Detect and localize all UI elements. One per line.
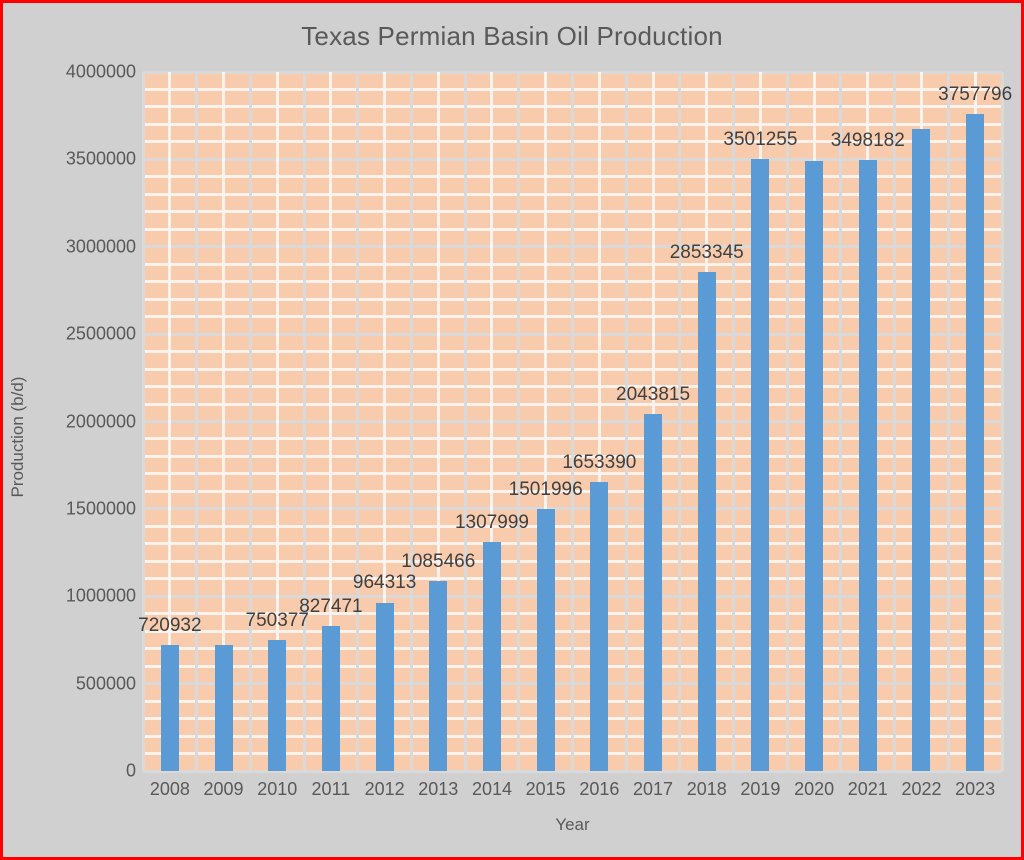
bar[interactable] (751, 159, 769, 771)
chart-screenshot: Texas Permian Basin Oil Production Produ… (0, 0, 1024, 860)
bar-value-label: 2043815 (616, 384, 690, 406)
bar[interactable] (805, 161, 823, 771)
x-axis-tick-label: 2014 (472, 779, 512, 800)
bar[interactable] (966, 114, 984, 771)
x-axis-tick-label: 2008 (150, 779, 190, 800)
bar[interactable] (698, 272, 716, 771)
y-axis-tick-label: 2500000 (6, 324, 136, 345)
x-axis-tick-label: 2011 (312, 779, 351, 800)
x-axis-tick-label: 2018 (687, 779, 727, 800)
x-axis-tick-label: 2013 (418, 779, 458, 800)
bar-value-label: 1085466 (401, 551, 475, 573)
x-axis-tick-label: 2012 (365, 779, 405, 800)
bar[interactable] (376, 603, 394, 772)
bar-series: 7209327503778274719643131085466130799915… (143, 72, 1002, 771)
x-axis-tick-label: 2017 (633, 779, 673, 800)
bar-value-label: 720932 (138, 615, 201, 637)
bar[interactable] (161, 645, 179, 771)
x-axis-tick-label: 2009 (204, 779, 244, 800)
bar[interactable] (268, 640, 286, 771)
bar[interactable] (859, 160, 877, 771)
x-axis-tick-label: 2022 (901, 779, 941, 800)
y-axis-tick-label: 1500000 (6, 498, 136, 519)
bar[interactable] (537, 509, 555, 771)
bar-value-label: 827471 (299, 596, 362, 618)
x-axis-tick-label: 2015 (526, 779, 566, 800)
bar[interactable] (483, 542, 501, 771)
bar[interactable] (590, 482, 608, 771)
bar-value-label: 3498182 (831, 130, 905, 152)
bar-value-label: 1501996 (509, 479, 583, 501)
y-axis-tick-label: 1000000 (6, 586, 136, 607)
y-axis-tick-label: 0 (6, 761, 136, 782)
bar-value-label: 2853345 (670, 242, 744, 264)
bar[interactable] (912, 129, 930, 771)
bar-value-label: 3501255 (723, 129, 797, 151)
y-axis-tick-label: 3500000 (6, 149, 136, 170)
bar-value-label: 1307999 (455, 512, 529, 534)
x-axis-title: Year (143, 815, 1002, 835)
x-axis-tick-label: 2016 (579, 779, 619, 800)
x-axis: 2008200920102011201220132014201520162017… (143, 779, 1002, 805)
bar-value-label: 964313 (353, 572, 416, 594)
plot-area: 7209327503778274719643131085466130799915… (143, 72, 1002, 771)
bar[interactable] (429, 581, 447, 771)
chart-title: Texas Permian Basin Oil Production (3, 21, 1021, 52)
y-axis-tick-label: 500000 (6, 673, 136, 694)
x-axis-tick-label: 2010 (257, 779, 297, 800)
x-axis-tick-label: 2020 (794, 779, 834, 800)
y-axis-tick-label: 4000000 (6, 62, 136, 83)
y-axis-tick-label: 3000000 (6, 236, 136, 257)
bar-value-label: 1653390 (562, 452, 636, 474)
bar[interactable] (644, 414, 662, 771)
bar[interactable] (215, 645, 233, 771)
x-axis-tick-label: 2021 (848, 779, 888, 800)
y-axis-tick-label: 2000000 (6, 411, 136, 432)
x-axis-tick-label: 2019 (740, 779, 780, 800)
x-axis-tick-label: 2023 (955, 779, 995, 800)
bar-value-label: 3757796 (938, 84, 1012, 106)
y-axis: Production (b/d) 05000001000000150000020… (3, 72, 136, 771)
bar[interactable] (322, 626, 340, 771)
